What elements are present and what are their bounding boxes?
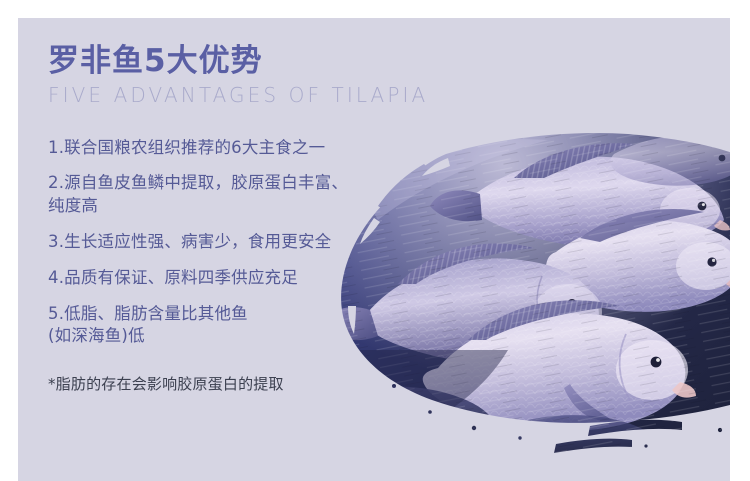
page-title-cn: 罗非鱼5大优势 [48, 44, 478, 79]
footnote-text: *脂肪的存在会影响胶原蛋白的提取 [48, 374, 478, 395]
poster-root: 罗非鱼5大优势 FIVE ADVANTAGES OF TILAPIA 1.联合国… [0, 0, 750, 481]
advantage-item-4: 4.品质有保证、原料四季供应充足 [48, 267, 478, 290]
advantage-item-1: 1.联合国粮农组织推荐的6大主食之一 [48, 137, 478, 160]
advantage-item-2: 2.源自鱼皮鱼鳞中提取，胶原蛋白丰富、 纯度高 [48, 172, 478, 218]
advantage-item-3: 3.生长适应性强、病害少，食用更安全 [48, 231, 478, 254]
poster-canvas: 罗非鱼5大优势 FIVE ADVANTAGES OF TILAPIA 1.联合国… [18, 18, 730, 481]
text-content: 罗非鱼5大优势 FIVE ADVANTAGES OF TILAPIA 1.联合国… [48, 44, 478, 395]
advantage-item-5: 5.低脂、脂肪含量比其他鱼 (如深海鱼)低 [48, 303, 478, 349]
title-block: 罗非鱼5大优势 FIVE ADVANTAGES OF TILAPIA [48, 44, 478, 107]
page-title-en: FIVE ADVANTAGES OF TILAPIA [48, 83, 478, 107]
advantages-list: 1.联合国粮农组织推荐的6大主食之一 2.源自鱼皮鱼鳞中提取，胶原蛋白丰富、 纯… [48, 137, 478, 348]
